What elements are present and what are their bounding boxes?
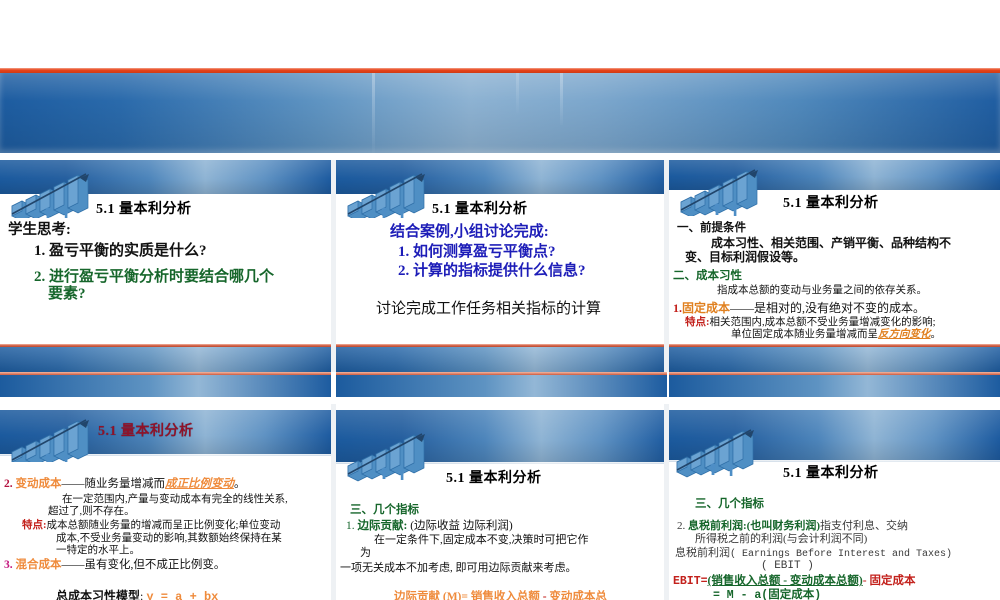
marginal-contribution-number: 1. bbox=[346, 520, 355, 532]
slide-6-line-0: 三、几个指标 bbox=[669, 498, 1000, 512]
slide-1-footer bbox=[0, 344, 331, 372]
slide-1-header: 5.1 量本利分析 bbox=[0, 160, 331, 218]
feature-label: 特点: bbox=[22, 520, 47, 531]
slide-6-line-5: EBIT=(销售收入总额 - 变动成本总额)- 固定成本 bbox=[669, 575, 1000, 589]
slide-1-bottom-band bbox=[0, 375, 331, 397]
slide-2-bottom-band bbox=[336, 375, 667, 397]
cost-model-label: 总成本习性模型 bbox=[56, 589, 140, 600]
slide-2-line-2: 2. 计算的指标提供什么信息? bbox=[336, 263, 667, 281]
slide-6-header: 5.1 量本利分析 bbox=[669, 404, 1000, 484]
slide-thumbnail-6[interactable]: 5.1 量本利分析 三、几个指标 2. 息税前利润:(也叫财务利润)指支付利息、… bbox=[669, 404, 1000, 600]
fixed-cost-name: 固定成本 bbox=[682, 301, 730, 315]
slide-6-title: 5.1 量本利分析 bbox=[783, 462, 879, 482]
variable-cost-name: 变动成本 bbox=[16, 478, 62, 490]
ebit-formula-paren: (销售收入总额 - 变动成本总额) bbox=[708, 575, 863, 587]
slide-5-line-4: 一项无关成本不加考虑, 即可用边际贡献来考虑。 bbox=[336, 562, 667, 575]
slide-4-line-5: 一特定的水平上。 bbox=[0, 545, 331, 557]
unit-fixed-post: 。 bbox=[931, 329, 942, 340]
variable-cost-mid: ——随业务量增减而 bbox=[62, 478, 166, 490]
slide-4-line-7: 总成本习性模型: y = a + bx bbox=[0, 589, 331, 600]
slide-2-header: 5.1 量本利分析 bbox=[336, 160, 667, 218]
mixed-cost-rest: ——虽有变化,但不成正比例变。 bbox=[62, 559, 226, 571]
slide-5-line-0: 三、几个指标 bbox=[336, 504, 667, 518]
slide-2-line-0: 结合案例,小组讨论完成: bbox=[336, 224, 667, 242]
slide-1-line-2: 2. 进行盈亏平衡分析时要结合哪几个 bbox=[0, 269, 331, 287]
slide-1-line-3: 要素? bbox=[0, 286, 331, 304]
slide-3-bottom-band bbox=[669, 375, 1000, 397]
ebit-formula-minus-fixed: - 固定成本 bbox=[863, 575, 916, 587]
banner-streak-2 bbox=[560, 73, 563, 125]
mixed-cost-name: 混合成本 bbox=[16, 559, 62, 571]
mc-formula-head: 边际贡献 (M)= bbox=[394, 591, 468, 600]
slide-3-header: 5.1 量本利分析 bbox=[669, 160, 1000, 216]
app-title-banner bbox=[0, 68, 1000, 153]
feature-text: 成本总额随业务量的增减而呈正比例变化;单位变动 bbox=[47, 520, 281, 531]
slide-3-line-4: 指成本总额的变动与业务量之间的依存关系。 bbox=[669, 285, 1000, 297]
slide-4-line-2: 超过了,则不存在。 bbox=[0, 506, 331, 518]
mc-formula-minus: - bbox=[543, 591, 547, 600]
slide-6-line-1: 2. 息税前利润:(也叫财务利润)指支付利息、交纳 bbox=[669, 520, 1000, 533]
slide-6-line-3: 息税前利润( Earnings Before Interest and Taxe… bbox=[669, 547, 1000, 561]
ebit-formula-lhs: EBIT= bbox=[673, 575, 708, 588]
gutter-2-row2 bbox=[664, 404, 669, 600]
cost-model-colon: : bbox=[140, 589, 143, 600]
slide-2-line-3: 讨论完成工作任务相关指标的计算 bbox=[336, 301, 667, 319]
slide-4-line-0: 2. 变动成本——随业务量增减而成正比例变动。 bbox=[0, 478, 331, 492]
slide-3-footer bbox=[669, 344, 1000, 372]
slide-1-line-1: 1. 盈亏平衡的实质是什么? bbox=[0, 243, 331, 261]
feature-label: 特点: bbox=[685, 317, 710, 328]
ebit-name: 息税前利润: bbox=[688, 520, 747, 532]
banner-streak-1 bbox=[372, 73, 375, 153]
gutter-1-row1 bbox=[331, 160, 336, 372]
slide-thumbnail-1[interactable]: 5.1 量本利分析 学生思考: 1. 盈亏平衡的实质是什么? 2. 进行盈亏平衡… bbox=[0, 160, 331, 372]
slide-thumbnail-2[interactable]: 5.1 量本利分析 结合案例,小组讨论完成: 1. 如何测算盈亏平衡点? 2. … bbox=[336, 160, 667, 372]
slide-2-footer bbox=[336, 344, 667, 372]
slide-4-line-4: 成本,不受业务量变动的影响,其数额始终保持在某 bbox=[0, 533, 331, 545]
slide-2-title: 5.1 量本利分析 bbox=[432, 198, 528, 218]
slide-3-line-5: 1.固定成本——是相对的,没有绝对不变的成本。 bbox=[669, 301, 1000, 315]
slide-4-header: 5.1 量本利分析 bbox=[0, 404, 331, 462]
slide-thumbnail-4[interactable]: 5.1 量本利分析 2. 变动成本——随业务量增减而成正比例变动。 在一定范围内… bbox=[0, 404, 331, 600]
marginal-contribution-paren: (边际收益 边际利润) bbox=[410, 520, 513, 532]
banner-streak-3 bbox=[516, 73, 519, 113]
marginal-contribution-name: 边际贡献: bbox=[358, 520, 408, 532]
feature-text: 相关范围内,成本总额不受业务量增减变化的影响; bbox=[710, 317, 936, 328]
banner-gradient bbox=[0, 73, 1000, 153]
slide-6-line-6: = M - a(固定成本) bbox=[669, 589, 1000, 600]
ebit-number: 2. bbox=[677, 520, 685, 532]
slide-1-line-0: 学生思考: bbox=[0, 222, 331, 239]
slide-4-line-6: 3. 混合成本——虽有变化,但不成正比例变。 bbox=[0, 559, 331, 573]
mc-formula-revenue: 销售收入总额 bbox=[471, 591, 540, 600]
variable-cost-emphasis: 成正比例变动 bbox=[165, 478, 234, 490]
slide-2-line-1: 1. 如何测算盈亏平衡点? bbox=[336, 244, 667, 262]
ebit-cn-label: 息税前利润 bbox=[675, 547, 730, 559]
ebit-paren: (也叫财务利润) bbox=[747, 520, 820, 532]
mc-formula-varcost: 变动成本总 bbox=[549, 591, 607, 600]
slide-6-line-4: ( EBIT ) bbox=[669, 560, 1000, 573]
slide-4-line-3: 特点:成本总额随业务量的增减而呈正比例变化;单位变动 bbox=[0, 520, 331, 532]
slide-3-line-0: 一、前提条件 bbox=[669, 222, 1000, 236]
fixed-cost-number: 1. bbox=[673, 301, 682, 315]
fixed-cost-rest: ——是相对的,没有绝对不变的成本。 bbox=[730, 301, 925, 315]
mixed-cost-number: 3. bbox=[4, 559, 13, 571]
slide-5-header: 5.1 量本利分析 bbox=[336, 404, 667, 488]
variable-cost-number: 2. bbox=[4, 478, 13, 490]
ebit-en-label: ( Earnings Before Interest and Taxes) bbox=[730, 549, 952, 560]
slide-6-line-2: 所得税之前的利润(与会计利润不同) bbox=[669, 533, 1000, 546]
variable-cost-post: 。 bbox=[234, 478, 246, 490]
slide-5-title: 5.1 量本利分析 bbox=[446, 467, 542, 487]
unit-fixed-pre: 单位固定成本随业务量增减而呈 bbox=[731, 329, 878, 340]
ebit-rest: 指支付利息、交纳 bbox=[820, 520, 908, 532]
cost-model-equation: y = a + bx bbox=[146, 590, 218, 600]
slide-4-line-1: 在一定范围内,产量与变动成本有完全的线性关系, bbox=[0, 494, 331, 506]
slide-5-line-1: 1. 边际贡献: (边际收益 边际利润) bbox=[336, 520, 667, 534]
slide-thumbnail-3[interactable]: 5.1 量本利分析 一、前提条件 成本习性、相关范围、产销平衡、品种结构不 变、… bbox=[669, 160, 1000, 372]
slide-3-line-3: 二、成本习性 bbox=[669, 270, 1000, 284]
slide-3-line-1: 成本习性、相关范围、产销平衡、品种结构不 bbox=[669, 236, 1000, 250]
slide-thumbnail-5[interactable]: 5.1 量本利分析 三、几个指标 1. 边际贡献: (边际收益 边际利润) 在一… bbox=[336, 404, 667, 600]
slide-3-line-6: 特点:相关范围内,成本总额不受业务量增减变化的影响; bbox=[669, 317, 1000, 329]
slide-5-line-5: 边际贡献 (M)= 销售收入总额 - 变动成本总 bbox=[336, 591, 667, 600]
slide-5-line-2: 在一定条件下,固定成本不变,决策时可把它作 bbox=[336, 534, 667, 547]
unit-fixed-emphasis: 反方向变化 bbox=[878, 329, 931, 340]
slide-3-line-7: 单位固定成本随业务量增减而呈反方向变化。 bbox=[669, 329, 1000, 341]
slide-3-title: 5.1 量本利分析 bbox=[783, 192, 879, 212]
gutter-2-row1 bbox=[664, 160, 669, 372]
screenshot-root: 5.1 量本利分析 学生思考: 1. 盈亏平衡的实质是什么? 2. 进行盈亏平衡… bbox=[0, 0, 1000, 600]
slide-5-line-3: 为 bbox=[336, 547, 667, 560]
slide-4-title: 5.1 量本利分析 bbox=[98, 420, 194, 440]
slide-1-title: 5.1 量本利分析 bbox=[96, 198, 192, 218]
gutter-1-row2 bbox=[331, 404, 336, 600]
slide-3-line-2: 变、目标利润假设等。 bbox=[669, 250, 1000, 264]
